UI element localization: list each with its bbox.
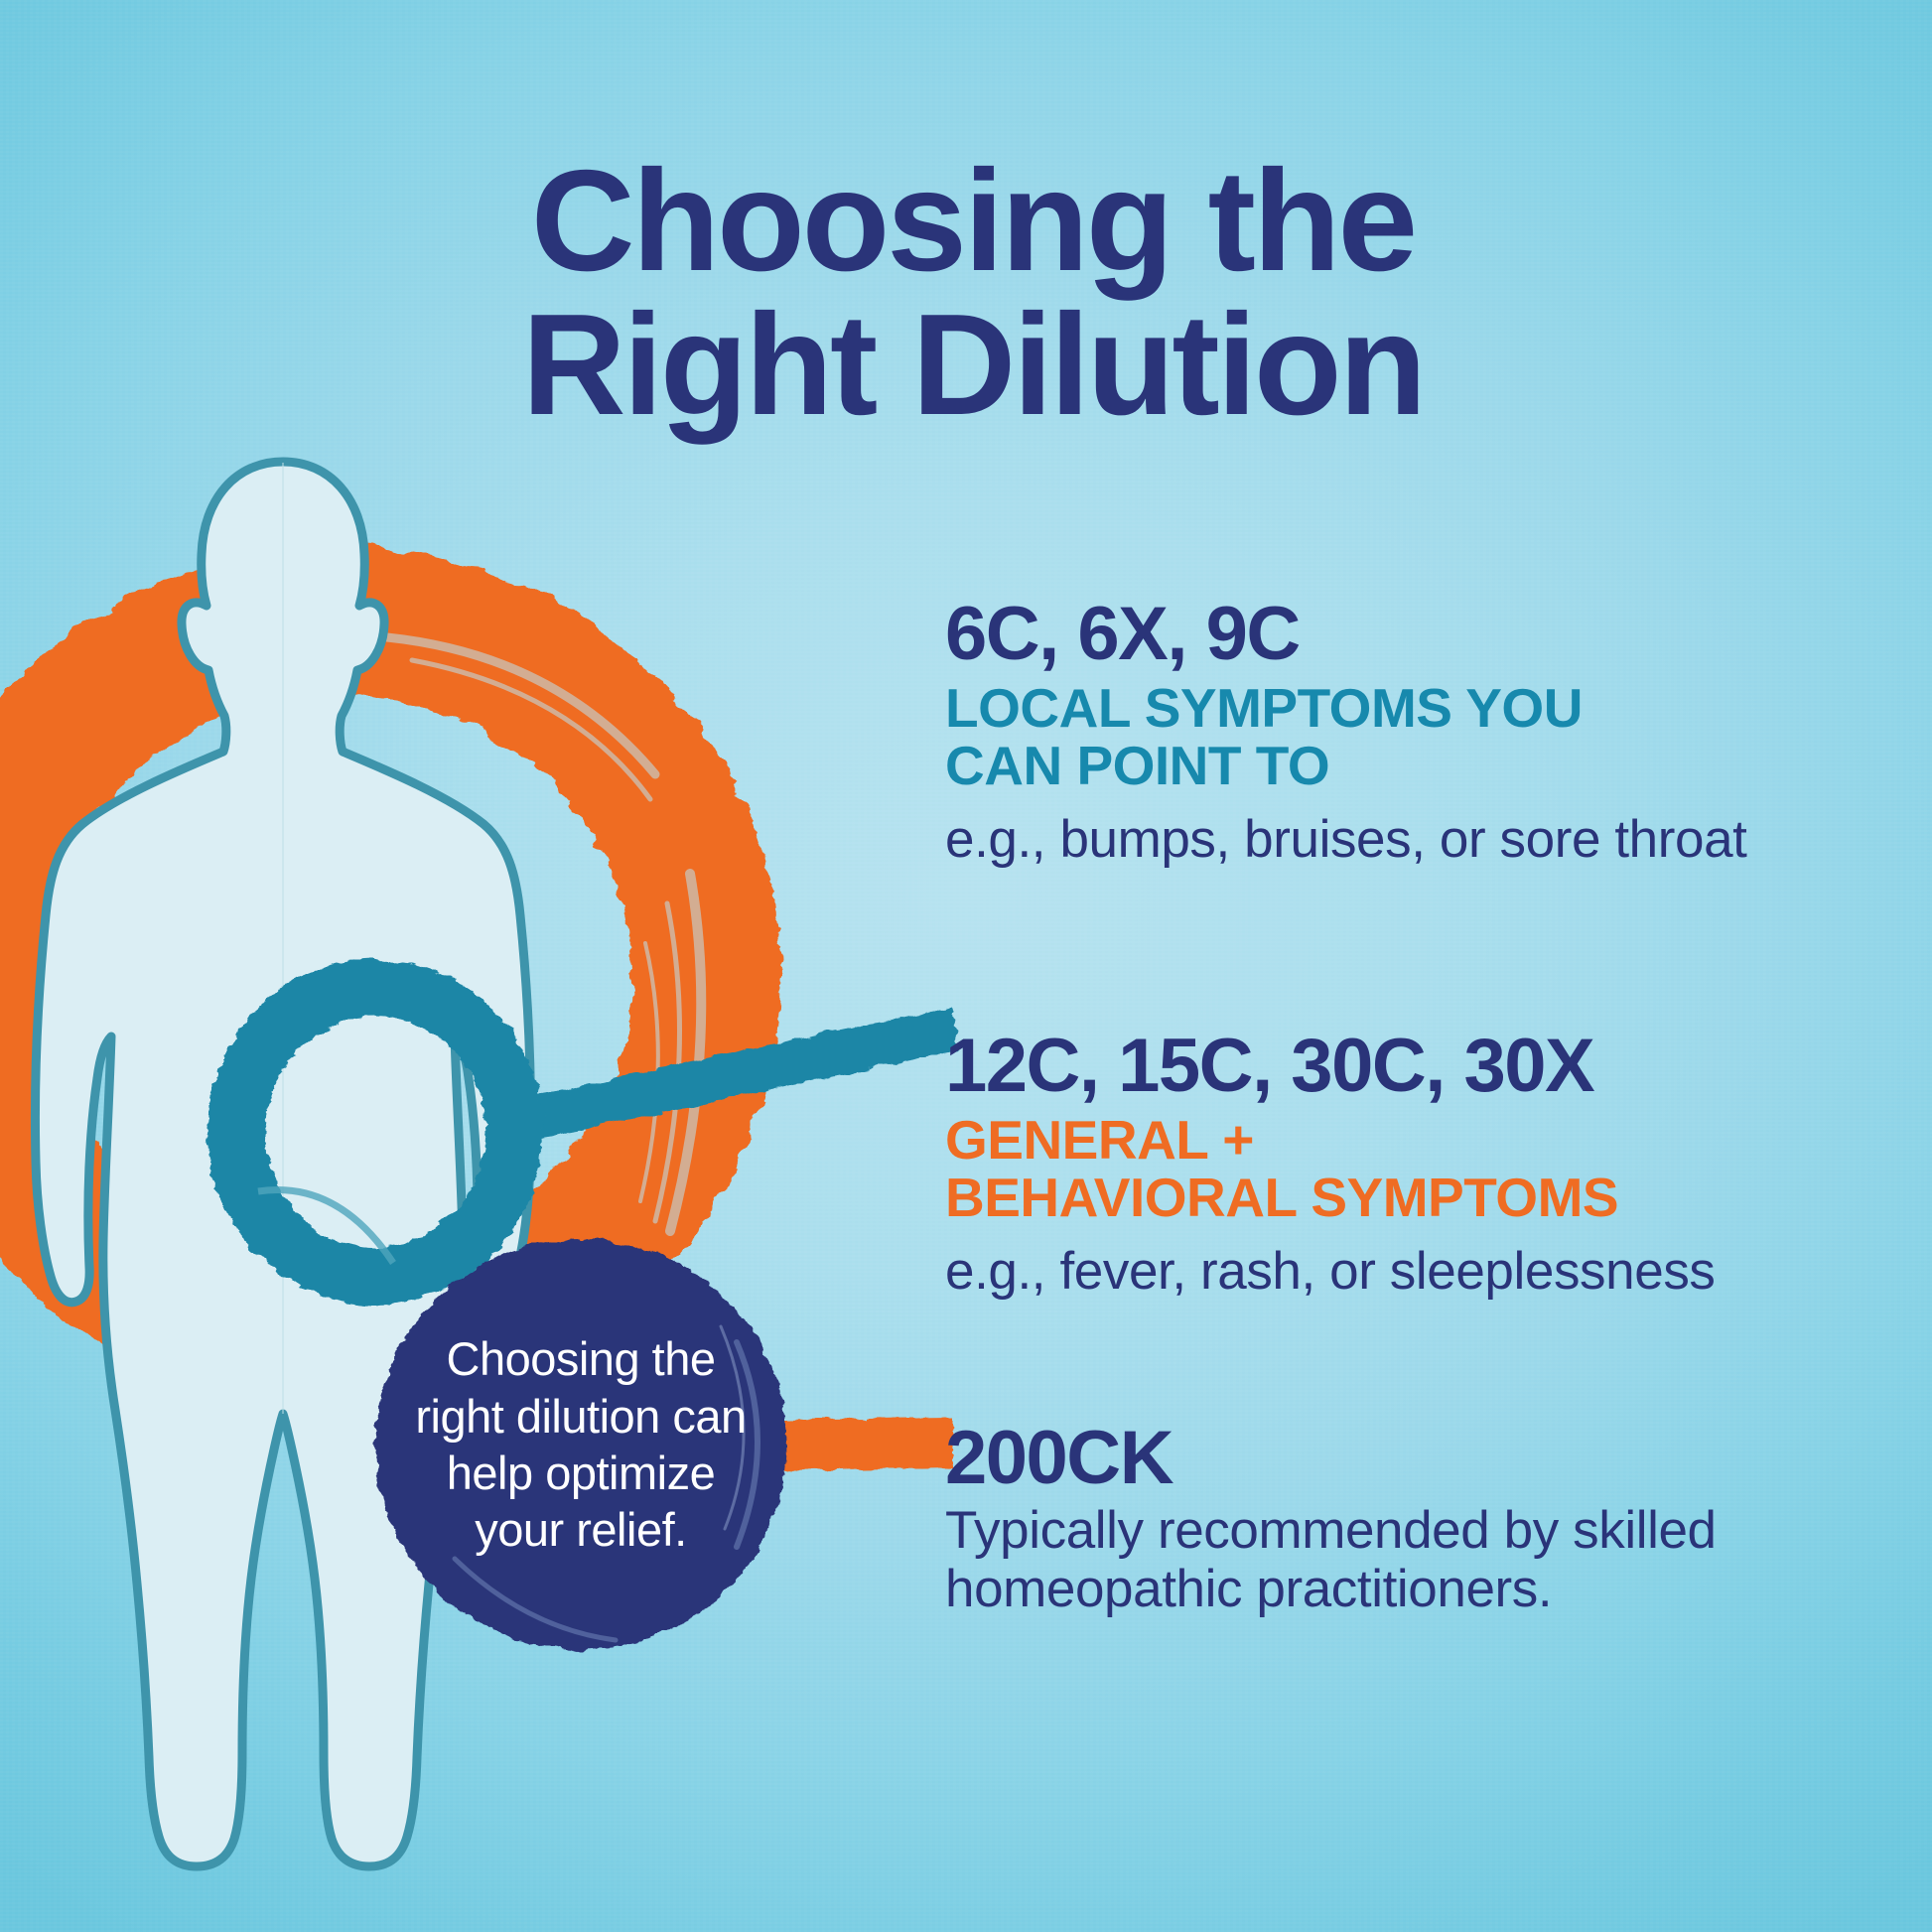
dilution-label-1: 6C, 6X, 9C: [945, 596, 1928, 673]
example-line-1a: e.g., bumps, bruises, or sore throat: [945, 810, 1928, 869]
illustration: [0, 407, 933, 1932]
category-line-1b: CAN POINT TO: [945, 737, 1928, 794]
infographic-poster: Choosing the Right Dilution: [0, 0, 1932, 1932]
example-line-3b: homeopathic practitioners.: [945, 1560, 1928, 1618]
category-label-1: LOCAL SYMPTOMS YOU CAN POINT TO: [945, 679, 1928, 795]
dilution-block-3: 200CK Typically recommended by skilled h…: [945, 1420, 1928, 1618]
example-text-2: e.g., fever, rash, or sleeplessness: [945, 1242, 1928, 1301]
example-text-3: Typically recommended by skilled homeopa…: [945, 1501, 1928, 1619]
page-title: Choosing the Right Dilution: [328, 149, 1618, 437]
callout-bubble: Choosing the right dilution can help opt…: [367, 1231, 794, 1658]
category-label-2: GENERAL + BEHAVIORAL SYMPTOMS: [945, 1111, 1928, 1227]
category-line-2b: BEHAVIORAL SYMPTOMS: [945, 1169, 1928, 1226]
dilution-label-3: 200CK: [945, 1420, 1928, 1497]
dilution-block-1: 6C, 6X, 9C LOCAL SYMPTOMS YOU CAN POINT …: [945, 596, 1928, 869]
category-line-1a: LOCAL SYMPTOMS YOU: [945, 679, 1928, 737]
example-line-3a: Typically recommended by skilled: [945, 1501, 1928, 1560]
callout-text: Choosing the right dilution can help opt…: [367, 1231, 794, 1658]
example-line-2a: e.g., fever, rash, or sleeplessness: [945, 1242, 1928, 1301]
title-line-1: Choosing the: [328, 149, 1618, 293]
category-line-2a: GENERAL +: [945, 1111, 1928, 1169]
example-text-1: e.g., bumps, bruises, or sore throat: [945, 810, 1928, 869]
dilution-block-2: 12C, 15C, 30C, 30X GENERAL + BEHAVIORAL …: [945, 1028, 1928, 1301]
dilution-label-2: 12C, 15C, 30C, 30X: [945, 1028, 1928, 1105]
